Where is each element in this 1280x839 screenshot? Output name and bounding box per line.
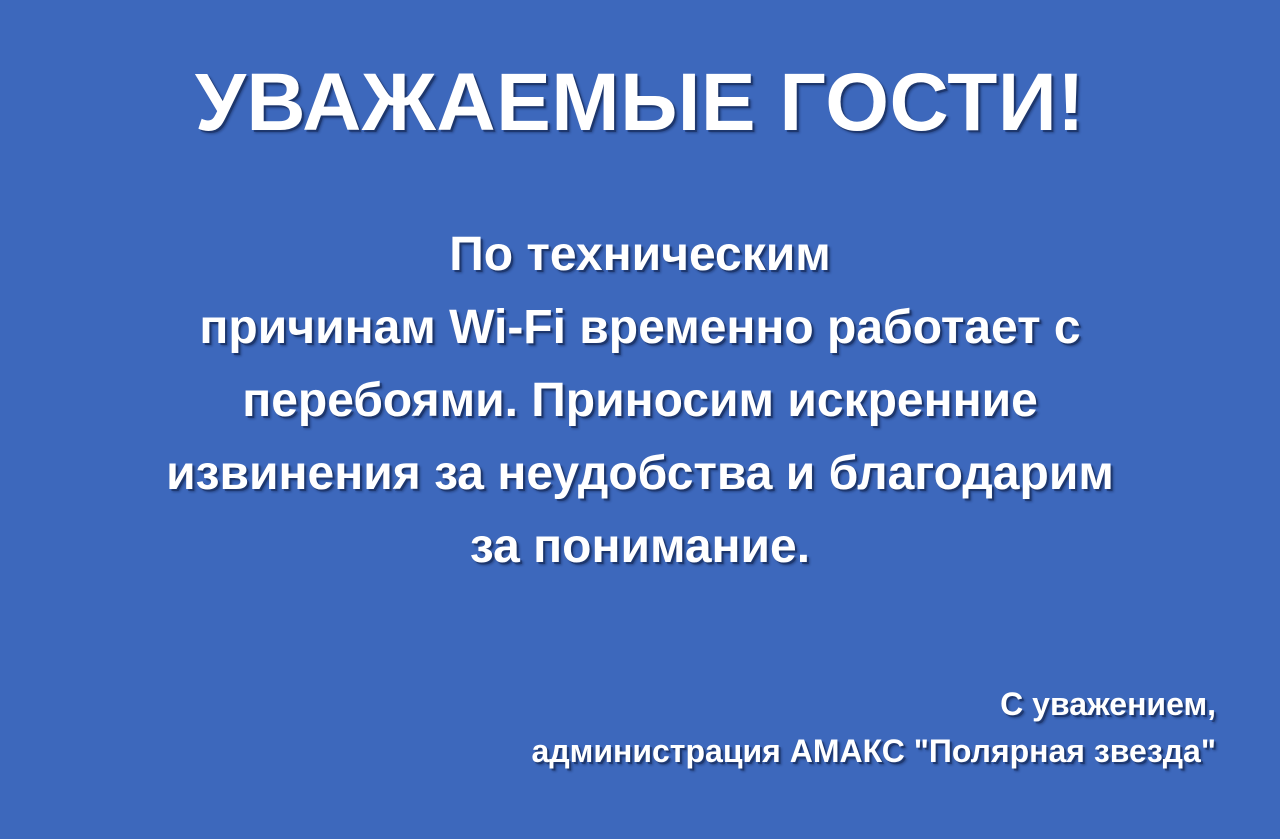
signature-author: администрация АМАКС "Полярная звезда" [64, 728, 1216, 775]
notice-body-line: причинам Wi-Fi временно работает с [64, 291, 1216, 364]
notice-body: По техническим причинам Wi-Fi временно р… [64, 218, 1216, 583]
notice-body-line: за понимание. [64, 510, 1216, 583]
notice-body-line: По техническим [64, 218, 1216, 291]
notice-body-line: извинения за неудобства и благодарим [64, 437, 1216, 510]
signature-closing: С уважением, [64, 681, 1216, 728]
notice-board: УВАЖАЕМЫЕ ГОСТИ! По техническим причинам… [0, 0, 1280, 839]
notice-body-line: перебоями. Приносим искренние [64, 364, 1216, 437]
notice-headline: УВАЖАЕМЫЕ ГОСТИ! [64, 62, 1216, 144]
notice-signature: С уважением, администрация АМАКС "Полярн… [64, 681, 1216, 775]
